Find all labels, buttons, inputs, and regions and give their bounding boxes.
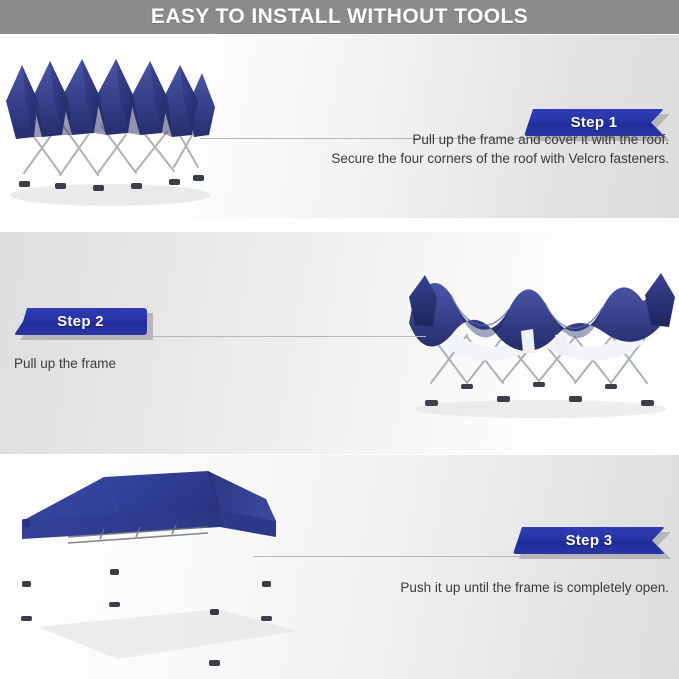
step-1-caption-line-1: Pull up the frame and cover it with the … — [249, 130, 669, 149]
step-2-badge-ribbon: Step 2 — [14, 308, 147, 335]
canopy-folded-with-roof — [2, 43, 217, 213]
step-3-badge: Step 3 — [513, 527, 665, 554]
step-2-connector-line — [150, 336, 426, 337]
step-2-caption: Pull up the frame — [14, 354, 344, 373]
step-1-panel: Step 1 Pull up the frame and cover it wi… — [0, 35, 679, 218]
step-3-caption-line-1: Push it up until the frame is completely… — [249, 578, 669, 597]
step-2-badge: Step 2 — [14, 308, 147, 335]
step-3-panel: Step 3 Push it up until the frame is com… — [0, 455, 679, 679]
step-3-badge-ribbon: Step 3 — [513, 527, 665, 554]
step-2-caption-line-1: Pull up the frame — [14, 354, 344, 373]
step-1-caption-line-2: Secure the four corners of the roof with… — [249, 149, 669, 168]
step-2-panel: Step 2 Pull up the frame — [0, 232, 679, 454]
infographic-page: EASY TO INSTALL WITHOUT TOOLS — [0, 0, 679, 679]
step-2-badge-label: Step 2 — [57, 313, 104, 330]
header-bar: EASY TO INSTALL WITHOUT TOOLS — [0, 0, 679, 34]
canopy-half-extended — [405, 257, 677, 422]
step-3-connector-line — [253, 556, 525, 557]
step-3-badge-label: Step 3 — [566, 532, 613, 549]
step-1-badge-label: Step 1 — [571, 114, 618, 131]
page-title: EASY TO INSTALL WITHOUT TOOLS — [151, 5, 528, 29]
step-3-caption: Push it up until the frame is completely… — [249, 578, 669, 597]
canopy-fully-open — [8, 459, 308, 674]
step-1-caption: Pull up the frame and cover it with the … — [249, 130, 669, 168]
